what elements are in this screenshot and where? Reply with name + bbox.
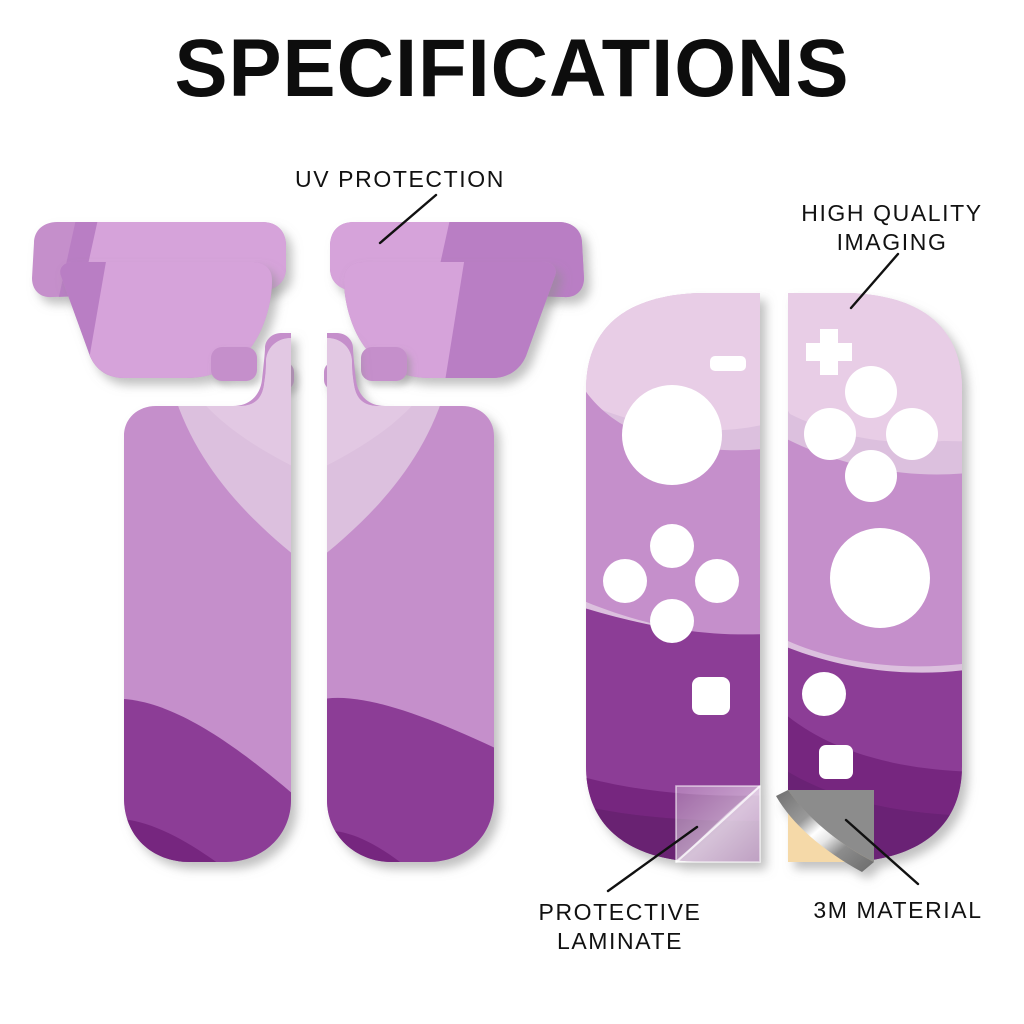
part-left-back-panel: [100, 300, 300, 900]
callout-high-quality-imaging: HIGH QUALITY IMAGING: [760, 199, 1024, 258]
cutout-dpad-up: [650, 524, 694, 568]
part-left-rail-wedge: [40, 250, 300, 400]
cutout-dpad-left: [603, 559, 647, 603]
cutout-y-button: [804, 408, 856, 460]
cutout-dpad-right: [695, 559, 739, 603]
cutout-capture-button: [692, 677, 730, 715]
part-right-joycon-face: [770, 280, 990, 880]
callout-3m-material: 3M MATERIAL: [772, 896, 1024, 925]
cutout-x-button: [845, 366, 897, 418]
cutout-dpad-down: [650, 599, 694, 643]
cutout-minus-button: [710, 356, 746, 371]
protective-laminate-peel: [676, 786, 760, 862]
cutout-b-button: [845, 450, 897, 502]
part-left-tab-small: [211, 347, 257, 381]
part-right-back-panel: [318, 300, 520, 900]
part-left-joycon-face: [560, 280, 790, 880]
cutout-a-button: [886, 408, 938, 460]
specifications-diagram: SPECIFICATIONS: [0, 0, 1024, 1024]
callout-uv-protection: UV PROTECTION: [250, 165, 550, 194]
part-right-tab-small: [361, 347, 407, 381]
product-artwork: [0, 0, 1024, 1024]
cutout-analog-stick: [622, 385, 722, 485]
callout-protective-laminate: PROTECTIVE LAMINATE: [470, 898, 770, 957]
cutout-analog-stick-right: [830, 528, 930, 628]
cutout-sync-button: [819, 745, 853, 779]
cutout-home-button: [802, 672, 846, 716]
